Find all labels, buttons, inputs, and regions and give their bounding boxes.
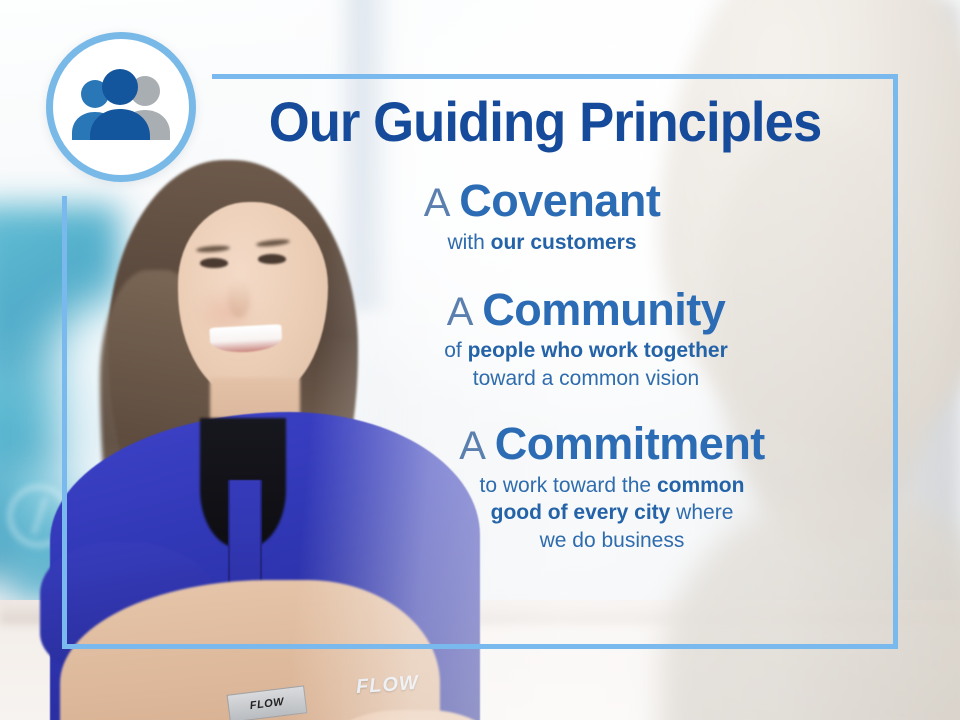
subtext-part-bold: people who work together [468,339,728,362]
subtext-part: where [670,501,733,524]
people-group-icon [65,68,177,146]
frame-border-top [212,74,898,79]
frame-border-right [893,74,898,649]
subtext-part-bold: good of every city [491,501,671,524]
employee-eye-left [200,258,228,268]
principle-covenant: A Covenant with our customers [300,178,880,257]
principle-article: A [447,290,483,334]
principle-article: A [459,424,495,468]
principles-list: A Covenant with our customers A Communit… [300,178,880,569]
principle-commitment: A Commitment to work toward the commongo… [300,421,880,555]
frame-border-bottom [62,644,898,649]
employee-chest-logo: FLOW [355,672,419,699]
principle-keyword: Covenant [459,175,660,226]
subtext-part-bold: our customers [491,231,637,254]
principle-heading: A Covenant [252,178,832,225]
principle-subtext: to work toward the commongood of every c… [322,472,902,555]
subtext-part: we do business [540,529,685,552]
principle-subtext: with our customers [252,229,832,257]
subtext-part: with [447,231,490,254]
principle-heading: A Community [296,287,876,334]
principle-article: A [424,181,460,225]
principle-subtext: of people who work togethertoward a comm… [296,337,876,392]
subtext-part: of [444,339,467,362]
principle-heading: A Commitment [322,421,902,468]
subtext-part: toward a common vision [473,367,699,390]
promotional-graphic: FLOW FLOW Our Guiding Principles [0,0,960,720]
principle-keyword: Commitment [495,418,765,469]
employee-nose [228,280,250,318]
principle-community: A Community of people who work togethert… [300,287,880,393]
frame-border-left [62,196,67,649]
people-group-badge [46,32,196,182]
subtext-part-bold: common [657,474,745,497]
subtext-part: to work toward the [480,474,657,497]
page-title: Our Guiding Principles [225,94,864,150]
principle-keyword: Community [482,284,725,335]
